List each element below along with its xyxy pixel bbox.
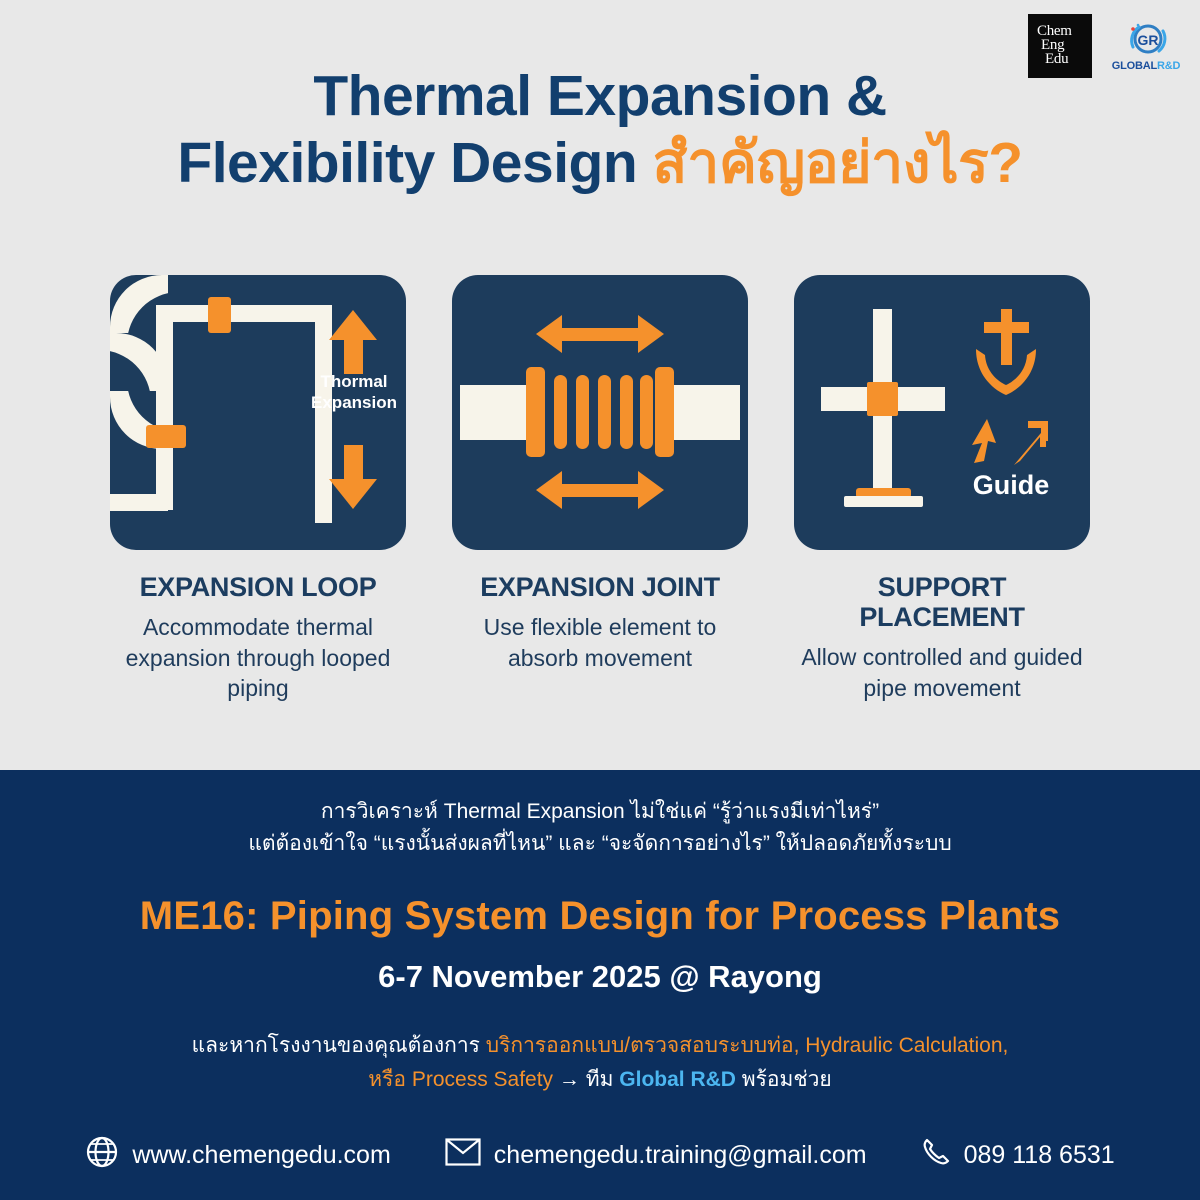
services-highlight-1: บริการออกแบบ/ตรวจสอบระบบท่อ, Hydraulic C… <box>486 1034 1009 1057</box>
globe-icon <box>85 1135 119 1176</box>
contact-website[interactable]: www.chemengedu.com <box>85 1135 390 1176</box>
feature-card-group: Thormal Expansion EXPANSION LOOP Accommo… <box>0 275 1200 703</box>
website-text: www.chemengedu.com <box>132 1141 390 1170</box>
card-expansion-joint: EXPANSION JOINT Use flexible element to … <box>452 275 748 703</box>
contact-email[interactable]: chemengedu.training@gmail.com <box>445 1138 867 1173</box>
services-mid: → ทีม <box>559 1068 614 1091</box>
card-description: Allow controlled and guided pipe movemen… <box>794 642 1090 703</box>
headline-line2-thai: สำคัญอย่างไร? <box>653 131 1023 195</box>
flange-right-icon <box>655 367 674 457</box>
card-title: EXPANSION JOINT <box>452 572 748 602</box>
double-arrow-icon <box>536 315 664 353</box>
contact-phone[interactable]: 089 118 6531 <box>921 1137 1115 1174</box>
services-team: Global R&D <box>619 1068 736 1091</box>
pipe-segment-right <box>672 385 740 440</box>
services-line-1: และหากโรงงานของคุณต้องการ บริการออกแบบ/ต… <box>0 1029 1200 1063</box>
support-placement-icon: Guide <box>794 275 1090 550</box>
arrow-down-icon <box>329 445 377 509</box>
contact-bar: www.chemengedu.com chemengedu.training@g… <box>0 1135 1200 1176</box>
banner-thai-line-1: การวิเคราะห์ Thermal Expansion ไม่ใช่แค่… <box>0 796 1200 828</box>
promo-banner: การวิเคราะห์ Thermal Expansion ไม่ใช่แค่… <box>0 770 1200 1200</box>
card-description: Use flexible element to absorb movement <box>452 612 748 673</box>
pipe-clamp-icon <box>867 382 898 416</box>
arrow-up-icon <box>329 310 377 374</box>
pipe-connector-icon <box>208 297 231 333</box>
headline-line2-en: Flexibility Design <box>177 131 637 195</box>
services-highlight-2: หรือ Process Safety <box>368 1068 553 1091</box>
headline-line1: Thermal Expansion & <box>0 66 1200 127</box>
double-arrow-icon <box>536 471 664 509</box>
banner-thai-line-2: แต่ต้องเข้าใจ “แรงนั้นส่งผลที่ไหน” และ “… <box>0 828 1200 860</box>
anchor-icon <box>970 305 1042 399</box>
card-title: EXPANSION LOOP <box>110 572 406 602</box>
gr-monogram-icon: GR <box>1123 21 1169 59</box>
base-plate <box>844 496 923 507</box>
card-description: Accommodate thermal expansion through lo… <box>110 612 406 703</box>
services-block: และหากโรงงานของคุณต้องการ บริการออกแบบ/ต… <box>0 1029 1200 1097</box>
svg-text:GR: GR <box>1138 32 1159 48</box>
guide-label: Guide <box>956 470 1066 501</box>
email-text: chemengedu.training@gmail.com <box>494 1141 867 1170</box>
card-expansion-loop: Thormal Expansion EXPANSION LOOP Accommo… <box>110 275 406 703</box>
course-title: ME16: Piping System Design for Process P… <box>0 894 1200 939</box>
phone-text: 089 118 6531 <box>964 1141 1115 1170</box>
services-tail: พร้อมช่วย <box>742 1068 832 1091</box>
course-date: 6-7 November 2025 @ Rayong <box>0 959 1200 995</box>
pipe-segment-left <box>460 385 528 440</box>
envelope-icon <box>445 1138 481 1173</box>
services-line-2: หรือ Process Safety → ทีม Global R&D พร้… <box>0 1063 1200 1097</box>
thermal-expansion-label: Thormal Expansion <box>306 371 402 413</box>
guide-arrows-icon <box>970 415 1052 467</box>
card-support-placement: Guide SUPPORT PLACEMENT Allow controlled… <box>794 275 1090 703</box>
expansion-joint-icon <box>452 275 748 550</box>
pipe-connector-icon <box>146 425 186 448</box>
global-rd-logo: GR GLOBALR&D <box>1110 21 1182 72</box>
services-lead: และหากโรงงานของคุณต้องการ <box>192 1034 480 1057</box>
logo-chem-line3: Edu <box>1037 53 1068 67</box>
phone-icon <box>921 1137 951 1174</box>
page-title: Thermal Expansion & Flexibility Design ส… <box>0 66 1200 194</box>
card-title: SUPPORT PLACEMENT <box>794 572 1090 632</box>
flange-left-icon <box>526 367 545 457</box>
expansion-loop-icon: Thormal Expansion <box>110 275 406 550</box>
